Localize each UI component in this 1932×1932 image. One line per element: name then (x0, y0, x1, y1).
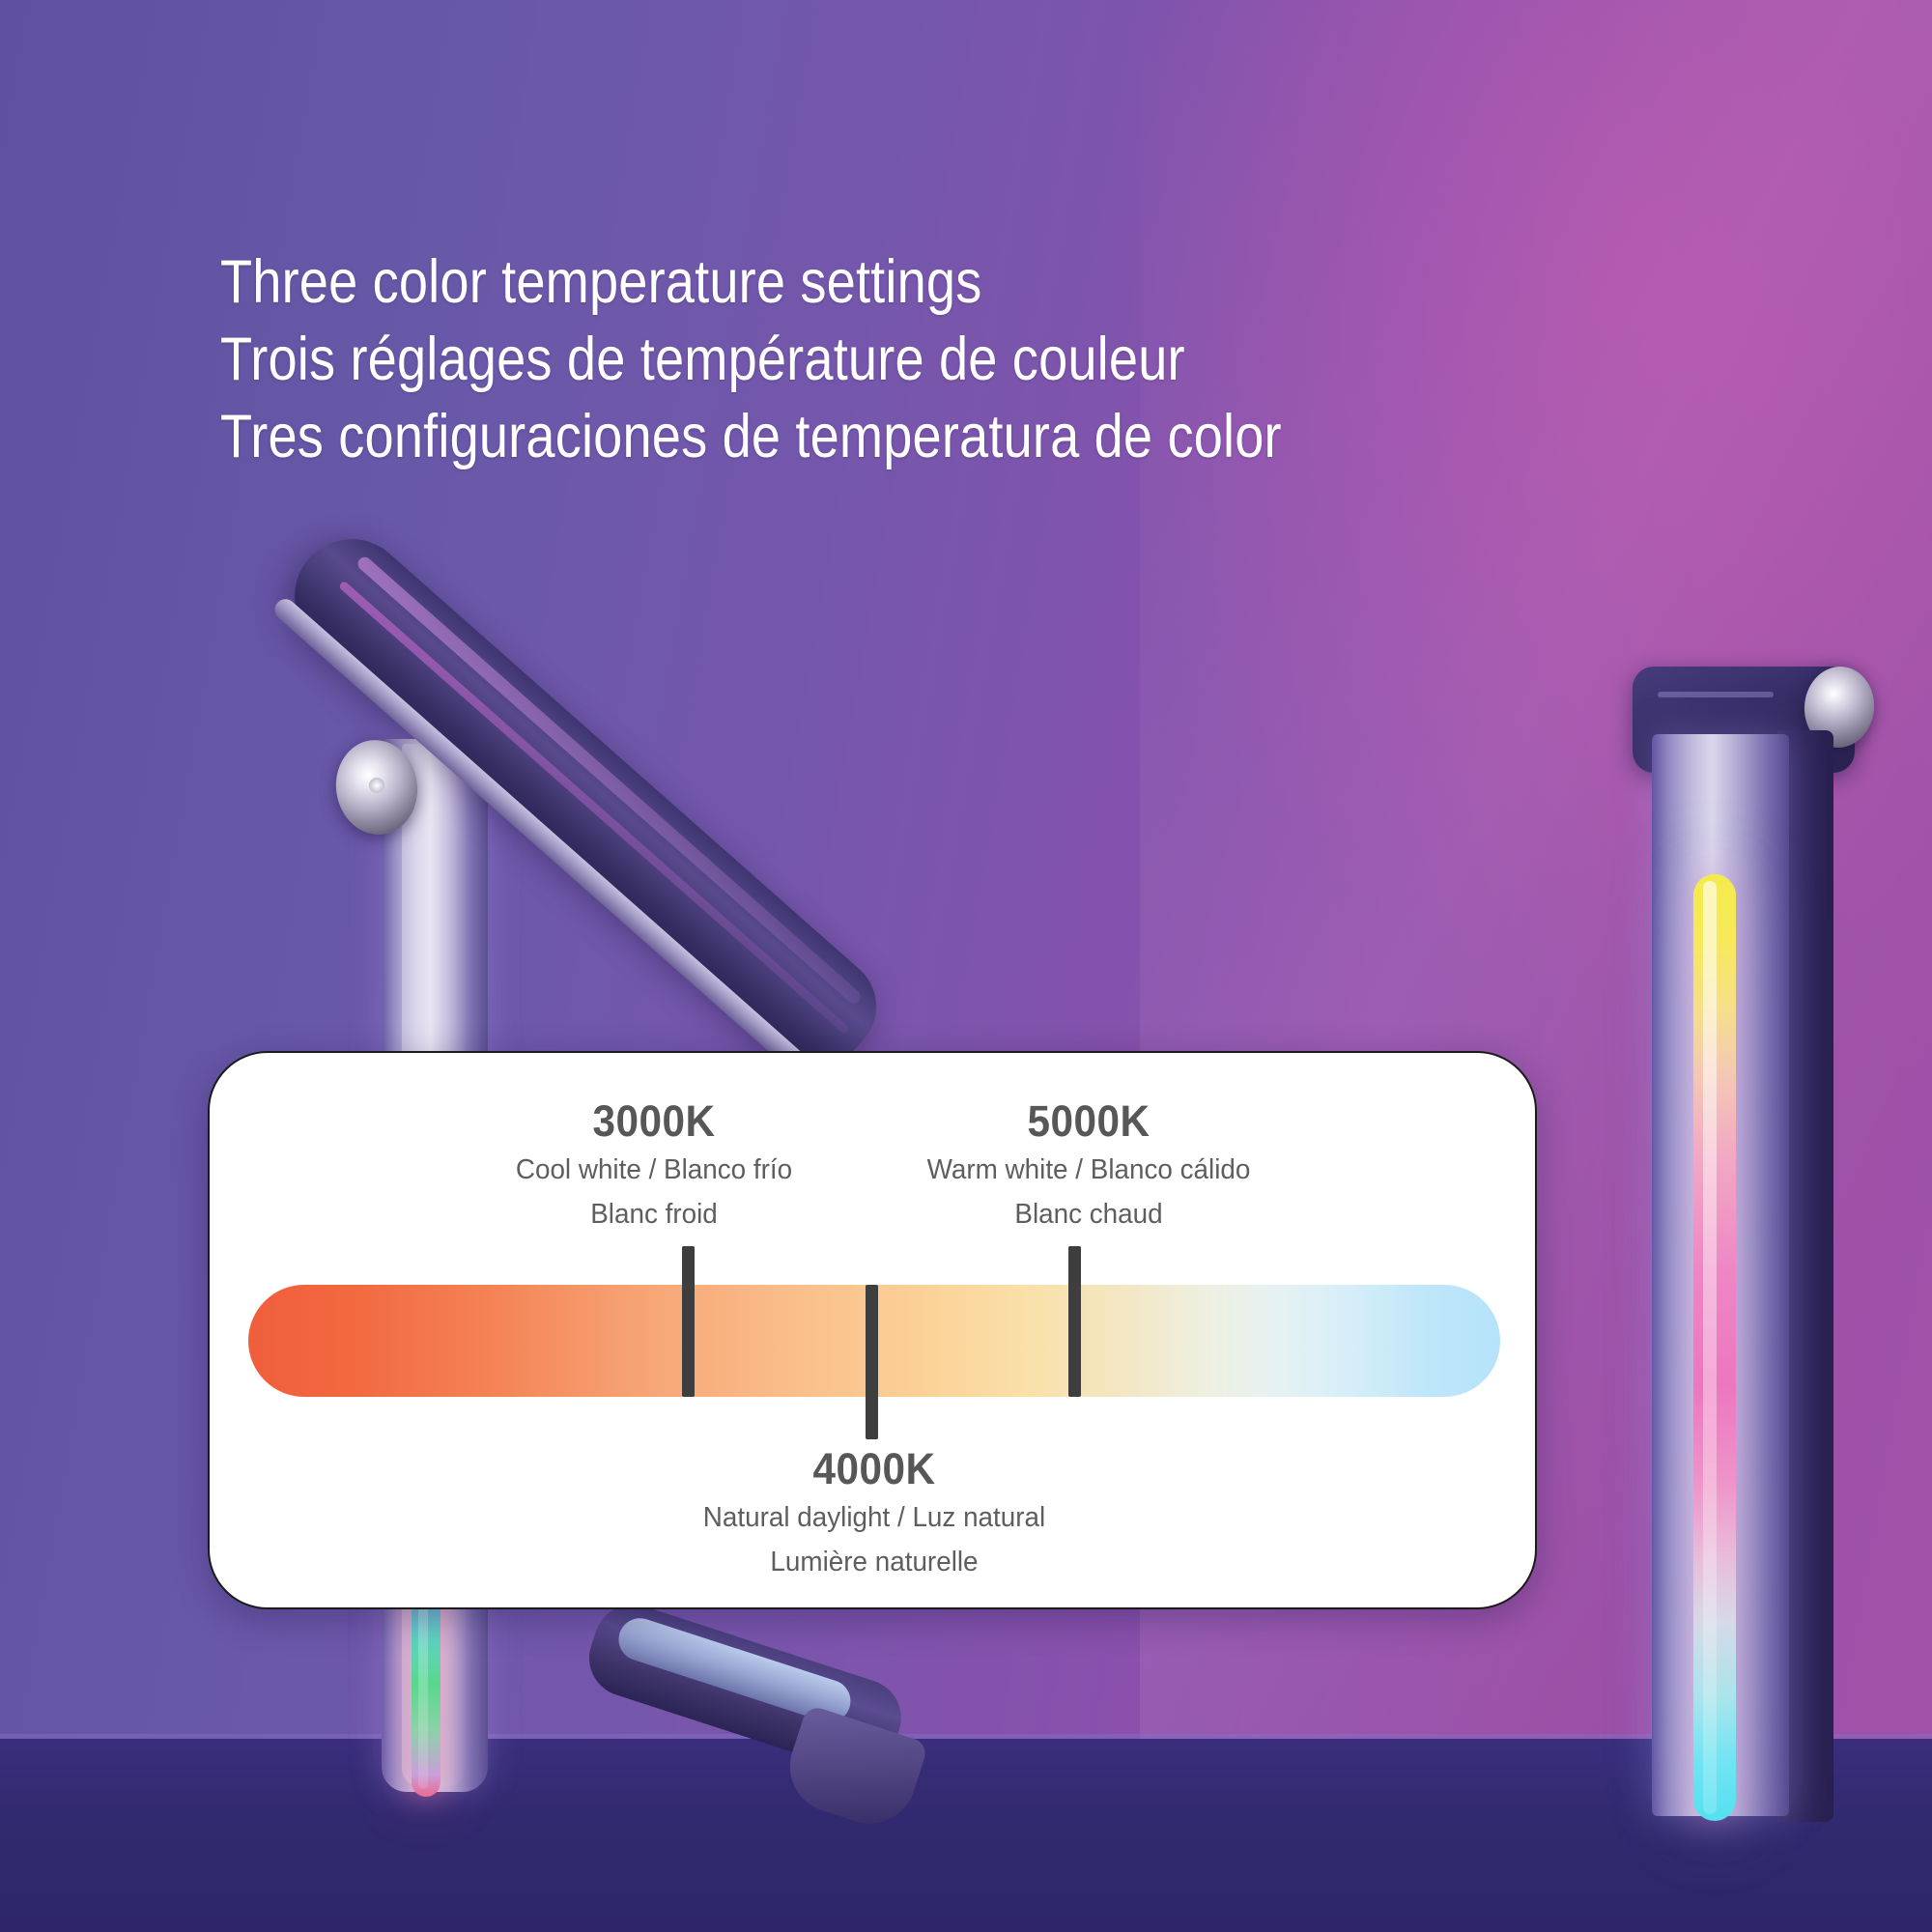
headline-line-french: Trois réglages de température de couleur (220, 321, 1217, 398)
infographic-stage: Three color temperature settings Trois r… (0, 0, 1932, 1932)
setting-label-4000k: 4000K Natural daylight / Luz natural Lum… (536, 1443, 1212, 1584)
temperature-desc-primary-5000k: Warm white / Blanco cálido (857, 1148, 1321, 1192)
setting-label-3000k: 3000K Cool white / Blanco frío Blanc fro… (412, 1095, 895, 1236)
temperature-desc-primary-4000k: Natural daylight / Luz natural (550, 1495, 1199, 1540)
temperature-desc-secondary-3000k: Blanc froid (422, 1192, 886, 1236)
setting-label-5000k: 5000K Warm white / Blanco cálido Blanc c… (847, 1095, 1330, 1236)
lamp-left-foot-cap (778, 1704, 928, 1835)
temperature-value-4000k: 4000K (556, 1443, 1192, 1495)
headline-block: Three color temperature settings Trois r… (220, 243, 1217, 475)
tick-marker-4000k (866, 1285, 878, 1439)
temperature-desc-primary-3000k: Cool white / Blanco frío (422, 1148, 886, 1192)
lamp-left-foot-assembly (563, 1595, 911, 1832)
temperature-desc-secondary-5000k: Blanc chaud (857, 1192, 1321, 1236)
tick-marker-5000k (1068, 1246, 1081, 1397)
headline-line-spanish: Tres configuraciones de temperatura de c… (220, 398, 1217, 475)
temperature-value-5000k: 5000K (862, 1095, 1316, 1148)
lamp-left-hinge-pin (369, 778, 384, 793)
temperature-desc-secondary-4000k: Lumière naturelle (550, 1540, 1199, 1584)
lamp-left-arm (225, 516, 896, 1140)
color-temperature-card: 3000K Cool white / Blanco frío Blanc fro… (208, 1051, 1537, 1609)
headline-line-english: Three color temperature settings (220, 243, 1217, 321)
lamp-right-joint-seam (1658, 692, 1774, 697)
tick-marker-3000k (682, 1246, 695, 1397)
lamp-right-strip-glare (1703, 881, 1717, 1814)
desk-lamp-right (1575, 0, 1932, 1835)
temperature-value-3000k: 3000K (427, 1095, 881, 1148)
lamp-left-arm-edge (270, 595, 829, 1093)
upper-labels-row: 3000K Cool white / Blanco frío Blanc fro… (210, 1095, 1535, 1260)
